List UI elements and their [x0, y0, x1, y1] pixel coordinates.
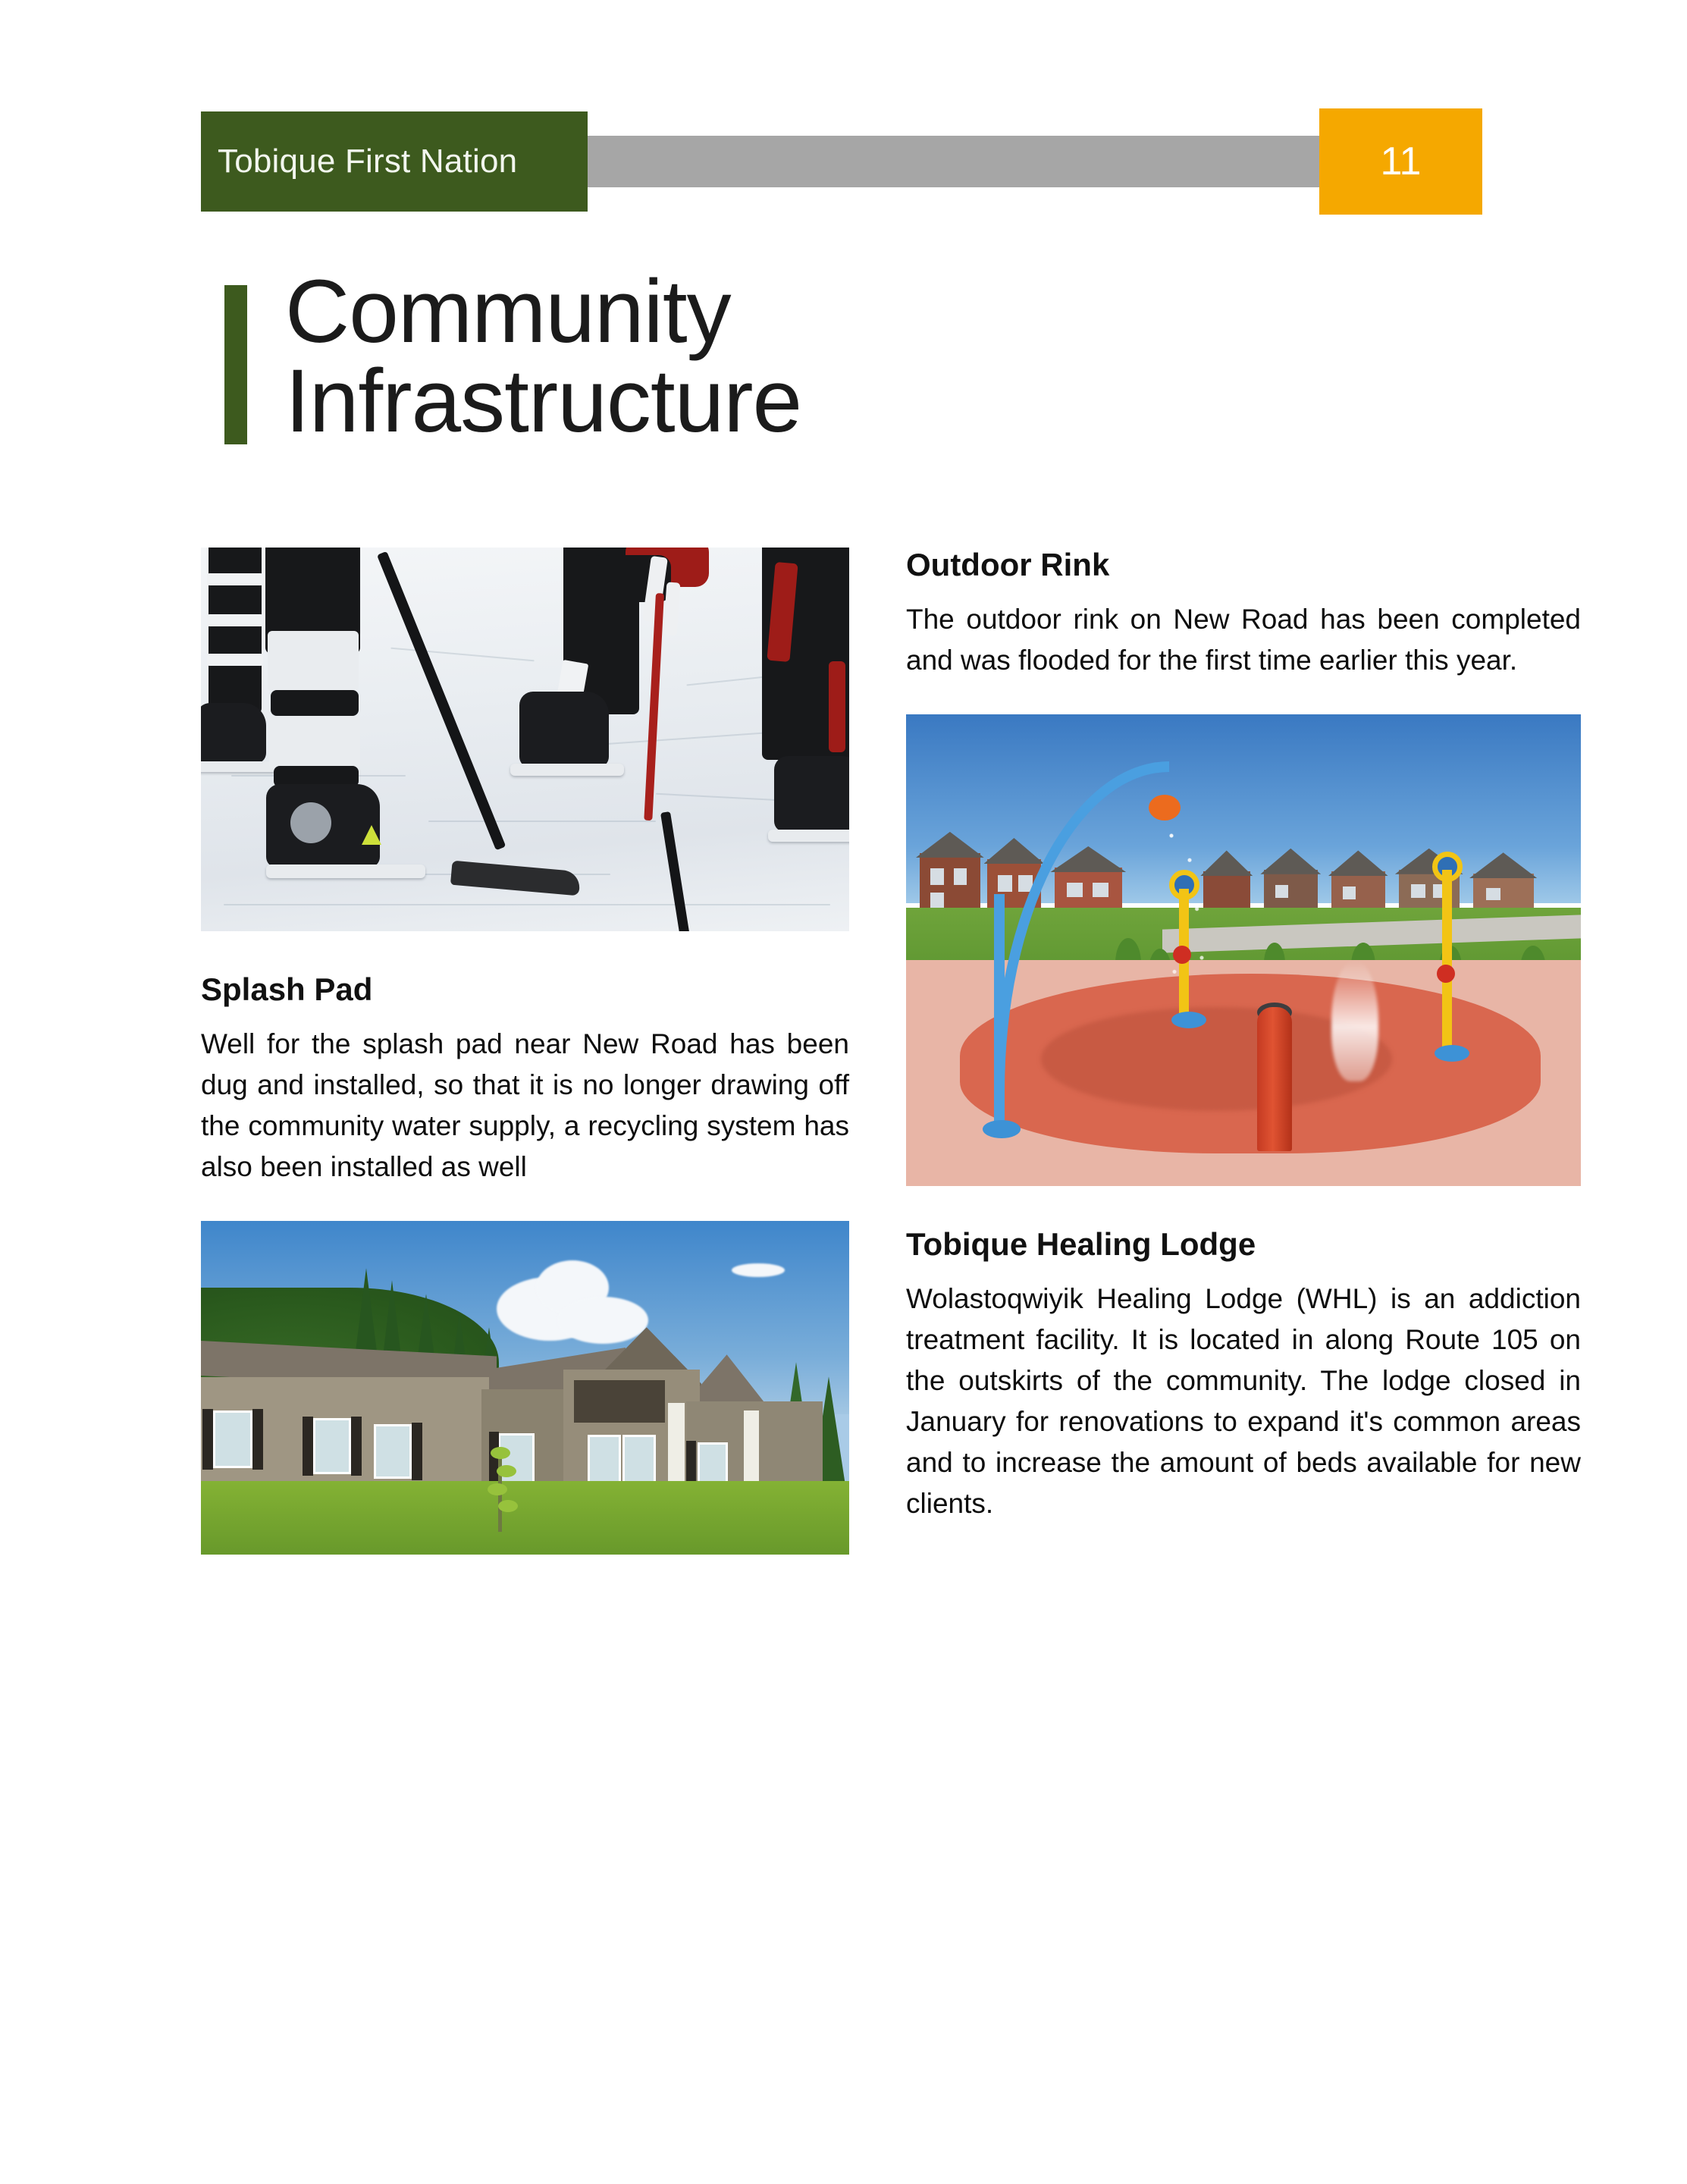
- page-number-badge: 11: [1319, 108, 1482, 215]
- arch-shower-stem: [994, 894, 1005, 1130]
- page-header: Tobique First Nation 11: [0, 111, 1687, 212]
- ground-geyser: [1331, 960, 1378, 1081]
- healing-lodge-photo: [201, 1221, 849, 1555]
- water-spray: [1159, 818, 1220, 993]
- page-title-line-2: Infrastructure: [285, 356, 1347, 446]
- healing-lodge-body: Wolastoqwiyik Healing Lodge (WHL) is an …: [906, 1279, 1581, 1524]
- splash-pad-photo: [906, 714, 1581, 1186]
- red-bollard: [1257, 1007, 1292, 1151]
- healing-lodge-heading: Tobique Healing Lodge: [906, 1227, 1581, 1262]
- header-grey-bar: [584, 136, 1372, 187]
- houses: [906, 814, 1581, 918]
- splash-pad-body: Well for the splash pad near New Road ha…: [201, 1024, 849, 1188]
- arch-shower-base: [983, 1120, 1021, 1138]
- right-column: Outdoor Rink The outdoor rink on New Roa…: [906, 548, 1581, 1525]
- left-column: Splash Pad Well for the splash pad near …: [201, 548, 849, 1555]
- page-number-label: 11: [1381, 142, 1422, 181]
- title-lines: Community Infrastructure: [285, 267, 1347, 446]
- hockey-rink-photo: [201, 548, 849, 931]
- lawn: [201, 1481, 849, 1555]
- splash-pad-heading: Splash Pad: [201, 972, 849, 1007]
- outdoor-rink-heading: Outdoor Rink: [906, 548, 1581, 582]
- page-title: Community Infrastructure: [224, 267, 1362, 487]
- page-title-line-1: Community: [285, 267, 1347, 356]
- header-organization-label: Tobique First Nation: [218, 145, 517, 178]
- title-accent-bar: [224, 285, 247, 444]
- header-organization-box: Tobique First Nation: [201, 111, 588, 212]
- outdoor-rink-body: The outdoor rink on New Road has been co…: [906, 599, 1581, 681]
- document-page: Tobique First Nation 11 Community Infras…: [0, 0, 1687, 2184]
